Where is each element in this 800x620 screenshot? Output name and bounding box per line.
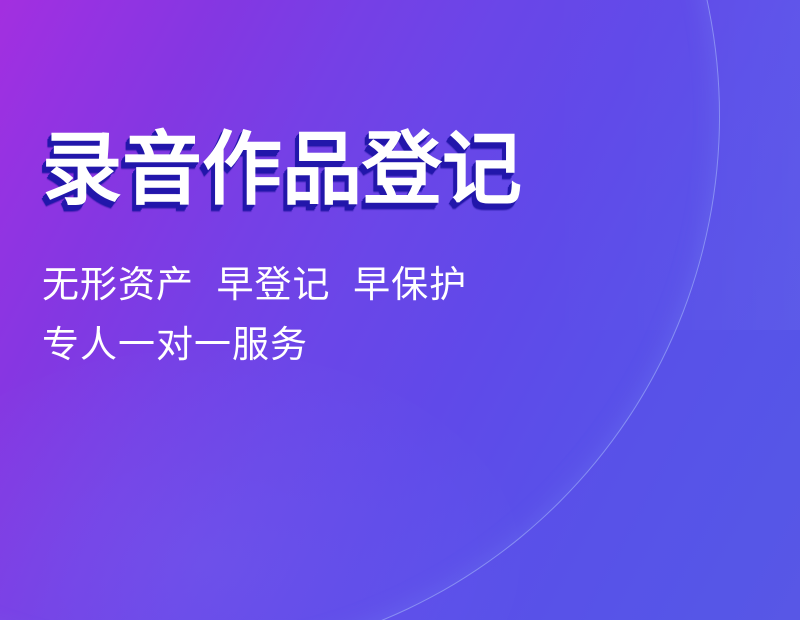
banner-subtitle-line-2: 专人一对一服务 <box>42 315 522 375</box>
banner-content: 录音作品登记 无形资产 早登记 早保护 专人一对一服务 <box>42 122 522 375</box>
lower-left-glow <box>0 350 520 620</box>
right-edge-seam <box>530 0 800 330</box>
banner-headline: 录音作品登记 <box>42 122 522 218</box>
banner-subtitle-line-1: 无形资产 早登记 早保护 <box>42 255 522 315</box>
promo-banner: 录音作品登记 无形资产 早登记 早保护 专人一对一服务 <box>0 0 800 620</box>
banner-subtitle-group: 无形资产 早登记 早保护 专人一对一服务 <box>42 255 522 375</box>
